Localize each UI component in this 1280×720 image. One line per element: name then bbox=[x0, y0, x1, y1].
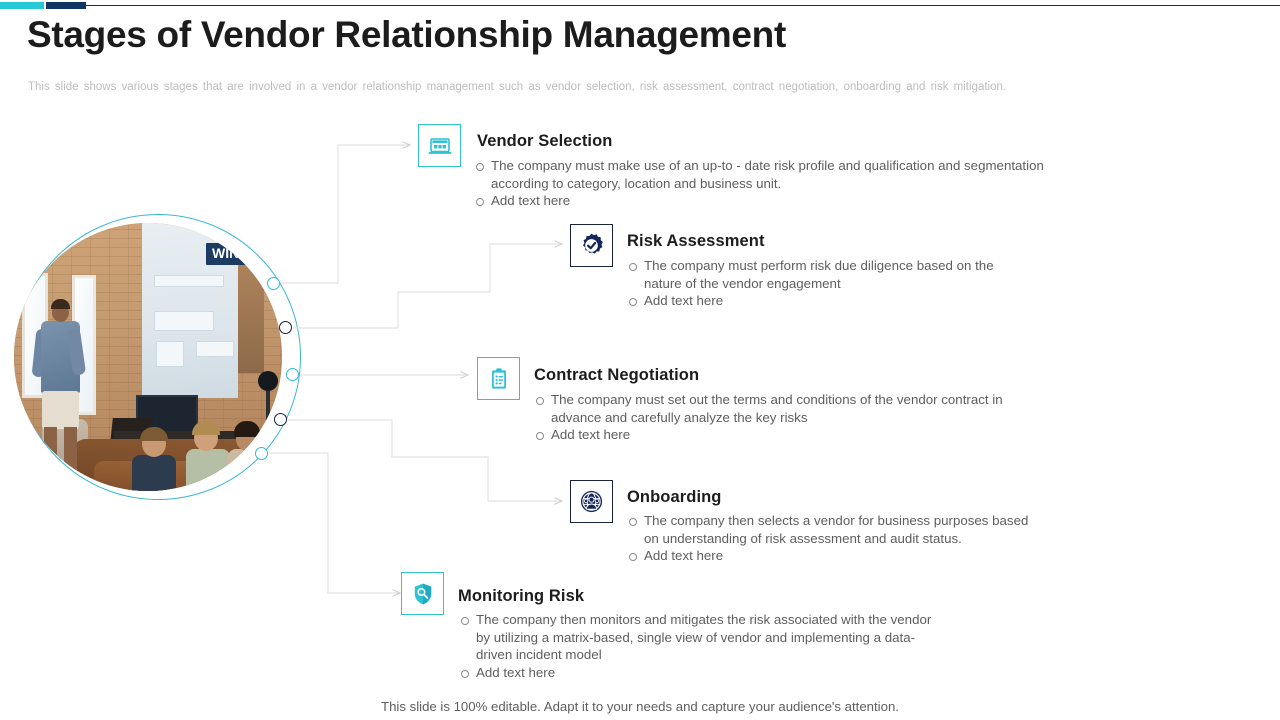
bullet-list-risk-assessment: The company must perform risk due dilige… bbox=[628, 257, 1248, 310]
bullet-item: The company must perform risk due dilige… bbox=[628, 257, 1248, 292]
bullet-line-1: The company then selects a vendor for bu… bbox=[644, 513, 1028, 528]
bullet-item[interactable]: Add text here bbox=[628, 292, 1248, 310]
bullet-line-1: Add text here bbox=[644, 548, 723, 563]
bullet-line-1: Add text here bbox=[551, 427, 630, 442]
bullet-line-1: Add text here bbox=[476, 665, 555, 680]
stage-title-onboarding: Onboarding bbox=[627, 488, 722, 507]
bullet-item[interactable]: Add text here bbox=[460, 664, 1100, 682]
bullet-line-2: advance and carefully analyze the key ri… bbox=[551, 409, 1195, 427]
connector-monitoring-risk bbox=[269, 453, 400, 593]
bullet-item[interactable]: Add text here bbox=[535, 426, 1195, 444]
bullet-line-1: The company must set out the terms and c… bbox=[551, 392, 1003, 407]
globe-people-icon[interactable] bbox=[570, 480, 613, 523]
connector-risk-assessment bbox=[293, 244, 562, 328]
bullet-line-1: Add text here bbox=[644, 293, 723, 308]
bullet-line-1: Add text here bbox=[491, 193, 570, 208]
bullet-item: The company must set out the terms and c… bbox=[535, 391, 1195, 426]
shield-search-icon[interactable] bbox=[401, 572, 444, 615]
bullet-line-2: nature of the vendor engagement bbox=[644, 275, 1248, 293]
bullet-item[interactable]: Add text here bbox=[475, 192, 1175, 210]
stage-title-contract-negotiation: Contract Negotiation bbox=[534, 366, 699, 385]
bullet-line-1: The company then monitors and mitigates … bbox=[476, 612, 931, 627]
bullet-line-1: The company must perform risk due dilige… bbox=[644, 258, 994, 273]
stage-title-vendor-selection: Vendor Selection bbox=[477, 132, 612, 151]
connector-vendor-selection bbox=[281, 145, 410, 283]
stage-title-risk-assessment: Risk Assessment bbox=[627, 232, 765, 251]
bullet-line-3: driven incident model bbox=[476, 646, 1100, 664]
stage-title-monitoring-risk: Monitoring Risk bbox=[458, 587, 584, 606]
bullet-line-2: by utilizing a matrix-based, single view… bbox=[476, 629, 1100, 647]
bullet-list-monitoring-risk: The company then monitors and mitigates … bbox=[460, 611, 1100, 681]
bullet-item: The company then monitors and mitigates … bbox=[460, 611, 1100, 664]
bullet-list-onboarding: The company then selects a vendor for bu… bbox=[628, 512, 1268, 565]
bullet-item: The company then selects a vendor for bu… bbox=[628, 512, 1268, 547]
laptop-browser-icon[interactable] bbox=[418, 124, 461, 167]
bullet-item: The company must make use of an up-to - … bbox=[475, 157, 1175, 192]
footer-note: This slide is 100% editable. Adapt it to… bbox=[0, 699, 1280, 714]
bullet-list-contract-negotiation: The company must set out the terms and c… bbox=[535, 391, 1195, 444]
bullet-line-2: on understanding of risk assessment and … bbox=[644, 530, 1268, 548]
bullet-line-2: according to category, location and busi… bbox=[491, 175, 1175, 193]
gear-check-icon[interactable] bbox=[570, 224, 613, 267]
bullet-item[interactable]: Add text here bbox=[628, 547, 1268, 565]
clipboard-contract-icon[interactable] bbox=[477, 357, 520, 400]
connector-onboarding bbox=[288, 420, 562, 501]
bullet-list-vendor-selection: The company must make use of an up-to - … bbox=[475, 157, 1175, 210]
bullet-line-1: The company must make use of an up-to - … bbox=[491, 158, 1044, 173]
